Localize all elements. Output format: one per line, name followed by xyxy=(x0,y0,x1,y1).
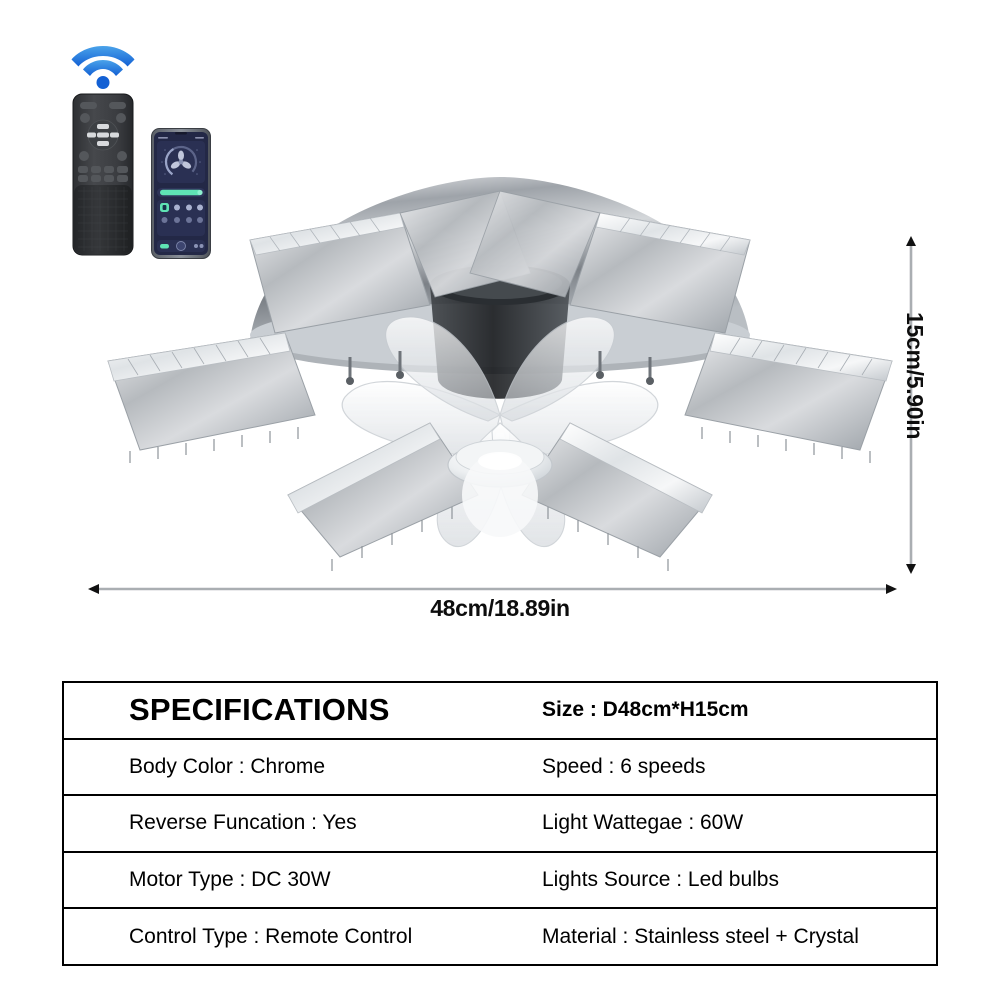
table-row: Reverse Funcation : Yes Light Wattegae :… xyxy=(64,796,936,853)
table-row: Control Type : Remote Control Material :… xyxy=(64,909,936,964)
table-row: Motor Type : DC 30W Lights Source : Led … xyxy=(64,853,936,910)
spec-value-lights-source: Lights Source : Led bulbs xyxy=(542,868,936,892)
table-row: SPECIFICATIONS Size : D48cm*H15cm xyxy=(64,683,936,740)
spec-value-light-wattage: Light Wattegae : 60W xyxy=(542,811,936,835)
dimension-height-label: 15cm/5.90in xyxy=(901,312,928,492)
spec-value-size: Size : D48cm*H15cm xyxy=(542,698,936,722)
specifications-table: SPECIFICATIONS Size : D48cm*H15cm Body C… xyxy=(62,681,938,966)
spec-value-reverse-function: Reverse Funcation : Yes xyxy=(64,811,542,835)
table-row: Body Color : Chrome Speed : 6 speeds xyxy=(64,740,936,797)
page-title: SPECIFICATIONS xyxy=(64,692,542,728)
spec-value-control-type: Control Type : Remote Control xyxy=(64,925,542,949)
spec-value-body-color: Body Color : Chrome xyxy=(64,755,542,779)
product-image-ceiling-fan xyxy=(100,165,900,575)
spec-value-motor-type: Motor Type : DC 30W xyxy=(64,868,542,892)
spec-value-material: Material : Stainless steel + Crystal xyxy=(542,925,936,949)
spec-value-speed: Speed : 6 speeds xyxy=(542,755,936,779)
product-spec-page: 15cm/5.90in 48cm/18.89in SPECIFICATIONS … xyxy=(0,0,1000,1000)
dimension-width-label: 48cm/18.89in xyxy=(0,595,1000,622)
wifi-icon xyxy=(70,33,136,89)
